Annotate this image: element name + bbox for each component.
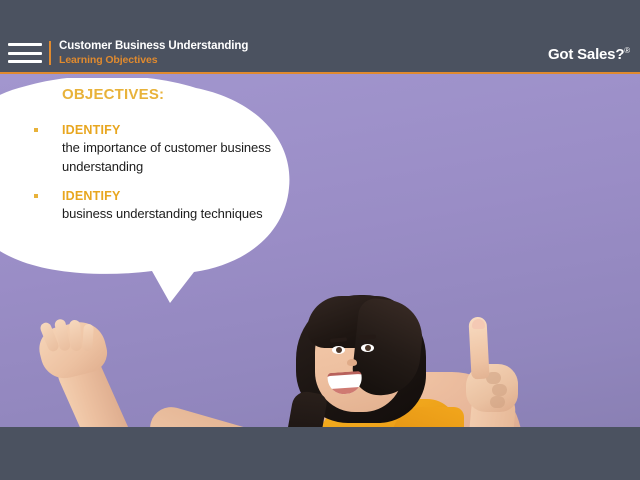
hamburger-menu-icon[interactable] <box>8 43 42 63</box>
presenter-braid <box>284 390 328 427</box>
presenter-eye-right <box>361 344 374 352</box>
objective-keyword: IDENTIFY <box>62 122 282 138</box>
list-item: IDENTIFY business understanding techniqu… <box>32 188 282 223</box>
hamburger-bar-1 <box>8 43 42 46</box>
presenter-forearm <box>145 402 301 427</box>
bullet-icon <box>34 194 38 198</box>
finger-4 <box>82 324 94 352</box>
brand-logo-text: Got Sales? <box>548 46 624 63</box>
knuckle-3 <box>490 396 505 408</box>
objective-keyword: IDENTIFY <box>62 188 282 204</box>
pupil-left <box>336 347 342 353</box>
header-divider <box>49 41 51 65</box>
presenter-eye-left <box>332 346 345 354</box>
objectives-list: IDENTIFY the importance of customer busi… <box>32 122 282 235</box>
bullet-icon <box>34 128 38 132</box>
objective-body: business understanding techniques <box>62 204 282 223</box>
hamburger-bar-2 <box>8 52 42 55</box>
module-subtitle: Learning Objectives <box>59 53 248 67</box>
knuckle-2 <box>492 384 507 396</box>
slide-canvas: OBJECTIVES: IDENTIFY the importance of c… <box>0 72 640 427</box>
header-text-group: Customer Business Understanding Learning… <box>59 39 248 67</box>
objective-body: the importance of customer business unde… <box>62 138 282 176</box>
pupil-right <box>365 345 371 351</box>
presenter-nose <box>347 359 357 366</box>
hamburger-bar-3 <box>8 60 42 63</box>
slide-header-bar: Customer Business Understanding Learning… <box>0 34 640 72</box>
slide-player: Customer Business Understanding Learning… <box>0 0 640 480</box>
fingernail <box>472 319 485 329</box>
registered-trademark-icon: ® <box>624 46 630 55</box>
brand-logo: Got Sales?® <box>548 46 630 63</box>
presenter-smile <box>327 371 362 395</box>
slide-accent-line <box>0 72 640 74</box>
course-title: Customer Business Understanding <box>59 39 248 53</box>
finger-3 <box>69 320 82 352</box>
list-item: IDENTIFY the importance of customer busi… <box>32 122 282 176</box>
objectives-heading: OBJECTIVES: <box>62 86 164 103</box>
